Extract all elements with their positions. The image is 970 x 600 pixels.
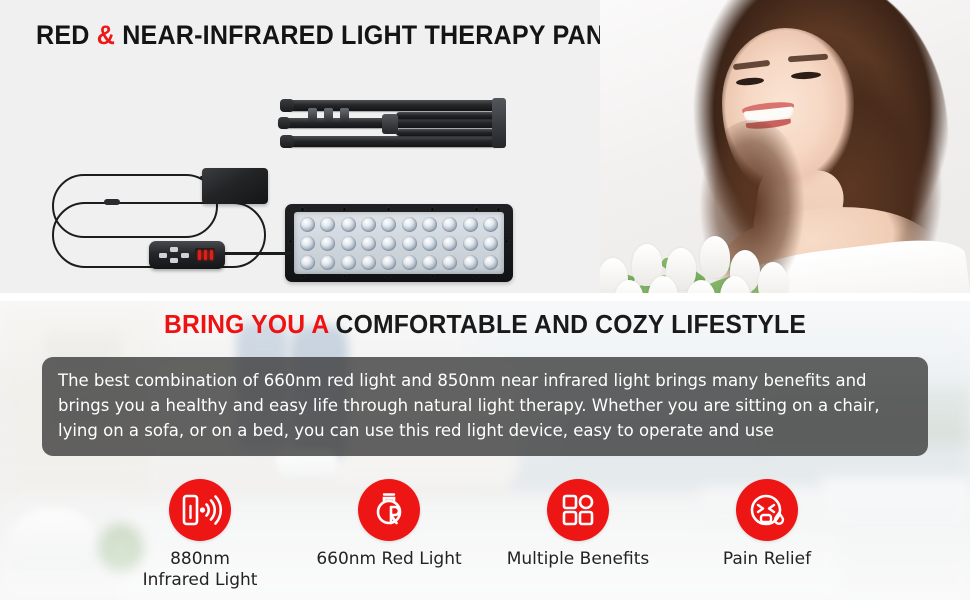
- led-emitter: [422, 236, 437, 251]
- feature-label-red-light: 660nm Red Light: [294, 549, 484, 570]
- infrared-signal-icon: [169, 479, 231, 541]
- led-emitter: [320, 217, 335, 232]
- led-emitter: [381, 217, 396, 232]
- led-emitter: [300, 217, 315, 232]
- panel-screw: [475, 275, 478, 278]
- panel-screw: [301, 275, 304, 278]
- red-light-bulb-icon: [358, 479, 420, 541]
- tripod-foot-cap: [280, 135, 294, 148]
- controller-button[interactable]: [170, 258, 178, 263]
- feature-label-pain-relief: Pain Relief: [672, 549, 862, 570]
- power-cable-run: [262, 252, 292, 255]
- tripod-hub: [492, 98, 506, 148]
- display-digit: [204, 250, 207, 260]
- led-emitter: [483, 217, 498, 232]
- led-emitter: [422, 217, 437, 232]
- led-emitter: [341, 217, 356, 232]
- title-ampersand: &: [97, 20, 115, 50]
- feature-label-line1: Pain Relief: [723, 549, 811, 569]
- tripod-leg: [286, 100, 504, 111]
- subtitle-rest: COMFORTABLE AND COZY LIFESTYLE: [329, 309, 806, 339]
- panel-screw: [505, 240, 508, 243]
- led-emitter: [341, 236, 356, 251]
- panel-screw: [343, 208, 346, 211]
- led-emitter: [442, 217, 457, 232]
- panel-screw: [497, 275, 500, 278]
- feature-label-benefits: Multiple Benefits: [483, 549, 673, 570]
- page-title: RED & NEAR-INFRARED LIGHT THERAPY PANEL: [36, 20, 637, 51]
- bottom-section: BRING YOU A COMFORTABLE AND COZY LIFESTY…: [0, 301, 970, 600]
- hero-photo: [600, 0, 970, 293]
- panel-screw: [475, 208, 478, 211]
- panel-screw: [289, 240, 292, 243]
- tripod-leg: [286, 136, 504, 147]
- feature-label-infrared: 880nm Infrared Light: [105, 549, 295, 591]
- panel-screw: [387, 208, 390, 211]
- feature-label-line2: Infrared Light: [143, 570, 258, 590]
- led-emitter: [483, 255, 498, 270]
- led-panel-product: [285, 204, 513, 282]
- section-subtitle: BRING YOU A COMFORTABLE AND COZY LIFESTY…: [164, 309, 806, 340]
- marketing-infographic: RED & NEAR-INFRARED LIGHT THERAPY PANEL: [0, 0, 970, 600]
- led-emitter: [320, 255, 335, 270]
- tripod-leg: [396, 129, 504, 136]
- panel-screw: [431, 275, 434, 278]
- tripod-lock-knob: [308, 108, 317, 122]
- panel-screw: [387, 275, 390, 278]
- subtitle-highlight: BRING YOU A: [164, 309, 328, 339]
- benefits-grid-glyph: [547, 479, 609, 541]
- controller-display: [195, 248, 215, 262]
- display-digit: [198, 250, 201, 260]
- title-part-two: NEAR-INFRARED LIGHT THERAPY PANEL: [115, 20, 637, 50]
- led-panel-face: [294, 212, 504, 274]
- led-emitter: [381, 255, 396, 270]
- led-emitter: [341, 255, 356, 270]
- pain-face-glyph: [736, 479, 798, 541]
- led-emitter: [463, 255, 478, 270]
- led-emitter: [402, 236, 417, 251]
- tripod-lock-knob: [324, 108, 333, 122]
- title-part-one: RED: [36, 20, 97, 50]
- controller-button[interactable]: [170, 247, 178, 252]
- controller-button[interactable]: [181, 253, 189, 258]
- feature-label-line1: Multiple Benefits: [507, 549, 650, 569]
- infrared-signal-glyph: [169, 479, 231, 541]
- led-emitter: [442, 255, 457, 270]
- feature-item-pain-relief: Pain Relief: [672, 479, 862, 570]
- tripod-leg: [396, 112, 504, 119]
- led-emitter: [361, 236, 376, 251]
- led-emitter: [463, 217, 478, 232]
- led-emitter: [361, 255, 376, 270]
- led-emitter: [463, 236, 478, 251]
- led-emitter: [320, 236, 335, 251]
- led-emitter: [442, 236, 457, 251]
- pain-face-icon: [736, 479, 798, 541]
- tripod-foot-cap: [280, 99, 294, 112]
- led-emitter: [483, 236, 498, 251]
- panel-screw: [431, 208, 434, 211]
- led-emitter: [300, 255, 315, 270]
- power-supply-adapter: [202, 168, 268, 204]
- feature-list: 880nm Infrared Light 660nm Red Light: [0, 479, 970, 599]
- tripod-lock-knob: [340, 108, 349, 122]
- feature-label-line1: 880nm: [170, 549, 230, 569]
- panel-screw: [497, 208, 500, 211]
- panel-screw: [301, 208, 304, 211]
- inline-controller: [149, 241, 225, 269]
- tripod-pivot: [382, 114, 398, 134]
- led-emitter: [402, 217, 417, 232]
- led-emitter: [422, 255, 437, 270]
- panel-screw: [343, 275, 346, 278]
- feature-item-benefits: Multiple Benefits: [483, 479, 673, 570]
- led-emitter: [300, 236, 315, 251]
- description-text: The best combination of 660nm red light …: [58, 371, 880, 440]
- led-emitter: [381, 236, 396, 251]
- tripod-stand-product: [278, 96, 510, 162]
- tulip-bloom: [700, 236, 730, 278]
- top-section: RED & NEAR-INFRARED LIGHT THERAPY PANEL: [0, 0, 970, 293]
- led-emitter: [402, 255, 417, 270]
- controller-buttons: [159, 247, 189, 263]
- feature-item-red-light: 660nm Red Light: [294, 479, 484, 570]
- cable-connector: [104, 199, 120, 205]
- led-emitter: [361, 217, 376, 232]
- controller-button[interactable]: [159, 253, 167, 258]
- tulip-bouquet: [600, 218, 820, 293]
- description-panel: The best combination of 660nm red light …: [42, 357, 928, 456]
- display-digit: [210, 250, 213, 260]
- tripod-foot-cap: [278, 117, 290, 129]
- feature-item-infrared: 880nm Infrared Light: [105, 479, 295, 591]
- red-light-bulb-glyph: [358, 479, 420, 541]
- tulip-bloom: [758, 262, 788, 293]
- multiple-benefits-grid-icon: [547, 479, 609, 541]
- feature-label-line1: 660nm Red Light: [316, 549, 461, 569]
